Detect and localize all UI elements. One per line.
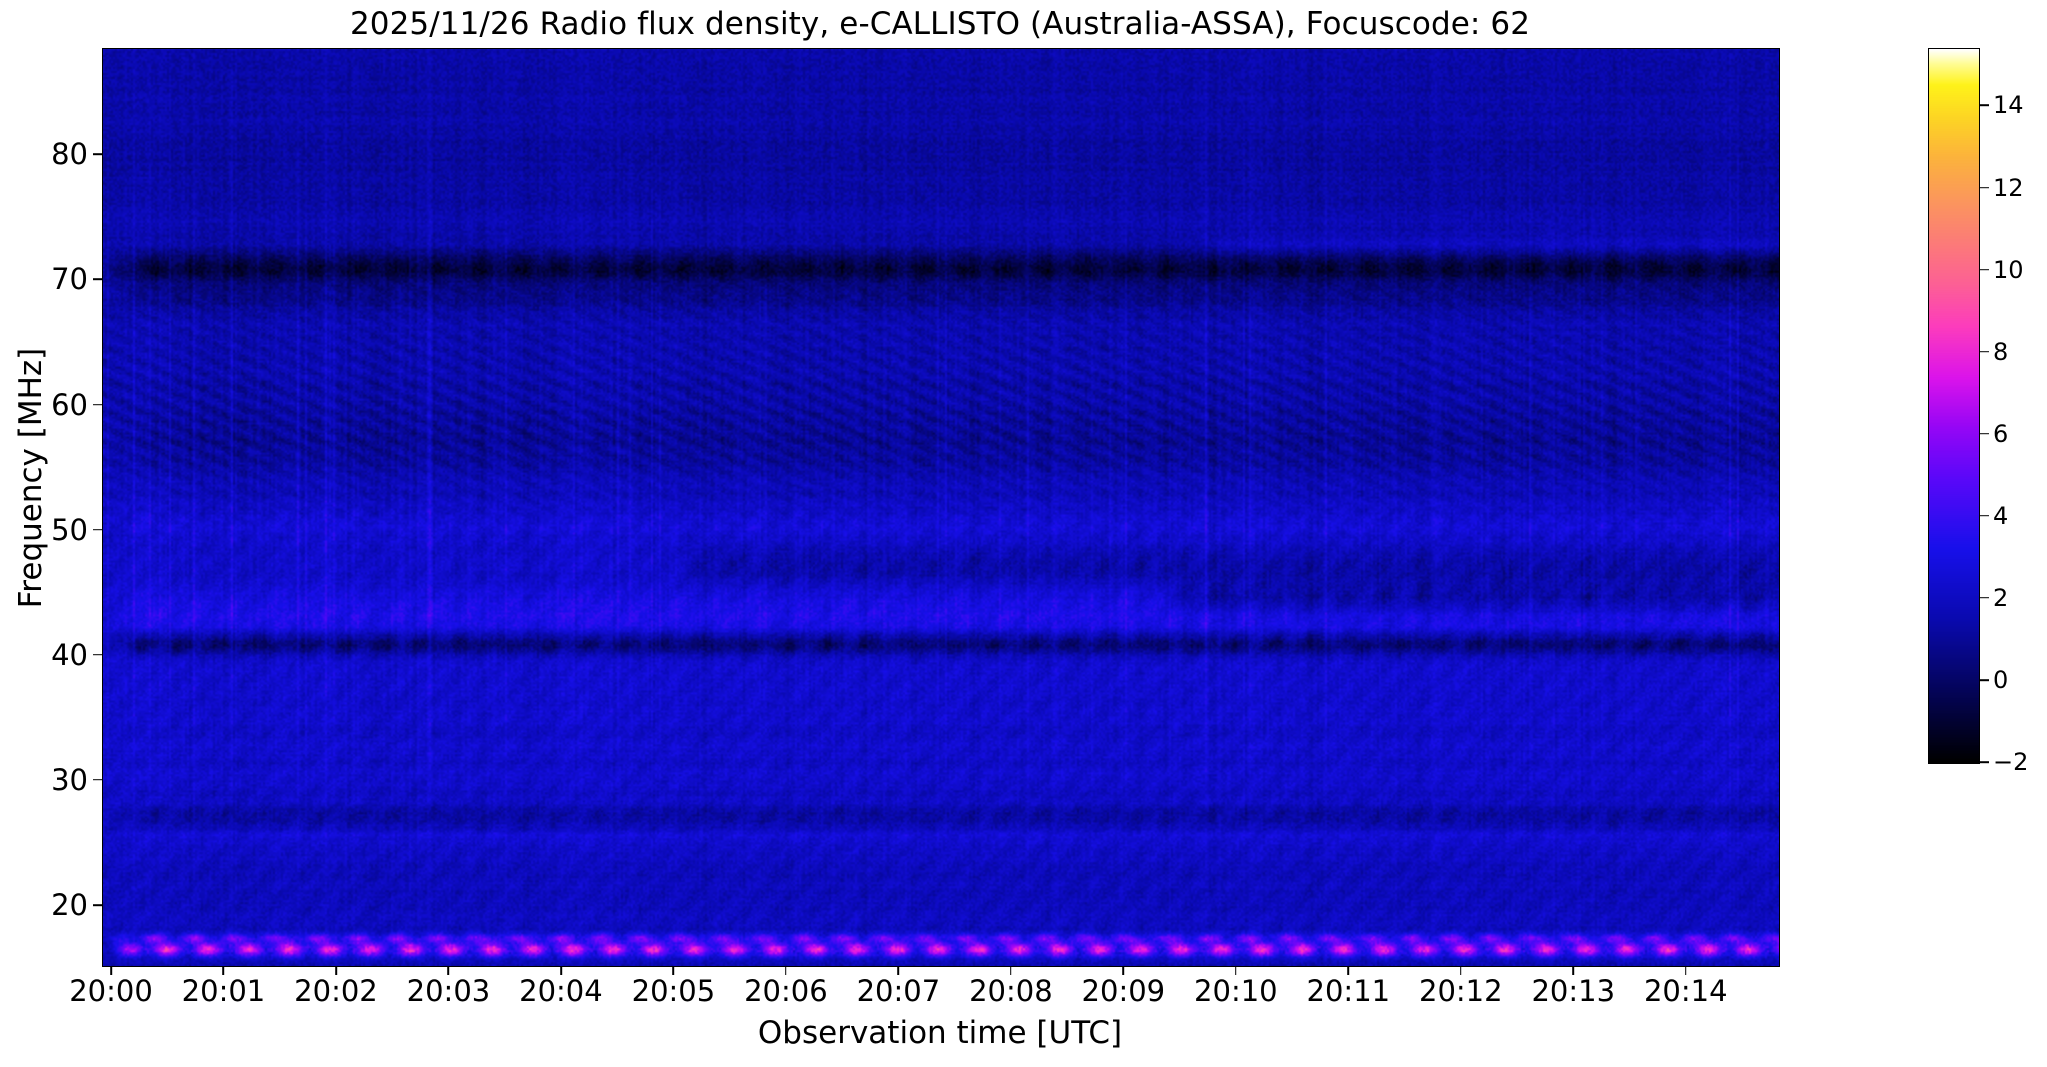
colorbar-tick-mark bbox=[1980, 515, 1989, 517]
x-tick-label: 20:02 bbox=[294, 974, 378, 1008]
x-tick-label: 20:10 bbox=[1194, 974, 1278, 1008]
colorbar-tick-label: 14 bbox=[1993, 91, 2024, 119]
colorbar-tick-mark bbox=[1980, 679, 1989, 681]
colorbar-gradient bbox=[1929, 49, 1979, 763]
x-axis: 20:0020:0120:0220:0320:0420:0520:0620:07… bbox=[0, 0, 2047, 1067]
x-tick-label: 20:09 bbox=[1082, 974, 1166, 1008]
colorbar-tick-label: 8 bbox=[1993, 338, 2008, 366]
colorbar-tick-mark bbox=[1980, 187, 1989, 189]
colorbar-tick-label: 10 bbox=[1993, 256, 2024, 284]
x-tick-label: 20:14 bbox=[1644, 974, 1728, 1008]
colorbar-tick-label: 12 bbox=[1993, 174, 2024, 202]
colorbar-tick-mark bbox=[1980, 433, 1989, 435]
x-tick-label: 20:04 bbox=[519, 974, 603, 1008]
colorbar-tick-mark bbox=[1980, 269, 1989, 271]
x-tick-label: 20:00 bbox=[69, 974, 153, 1008]
colorbar-tick-mark bbox=[1980, 105, 1989, 107]
figure-root: 2025/11/26 Radio flux density, e-CALLIST… bbox=[0, 0, 2047, 1067]
colorbar-tick-mark bbox=[1980, 761, 1989, 763]
colorbar-tick-mark bbox=[1980, 351, 1989, 353]
x-axis-label: Observation time [UTC] bbox=[102, 1015, 1778, 1051]
colorbar-tick-label: −2 bbox=[1993, 748, 2028, 776]
x-tick-label: 20:03 bbox=[407, 974, 491, 1008]
colorbar-tick-label: 4 bbox=[1993, 502, 2008, 530]
colorbar[interactable] bbox=[1928, 48, 1980, 764]
x-tick-label: 20:08 bbox=[969, 974, 1053, 1008]
colorbar-tick-label: 6 bbox=[1993, 420, 2008, 448]
x-tick-label: 20:11 bbox=[1307, 974, 1391, 1008]
x-tick-label: 20:12 bbox=[1419, 974, 1503, 1008]
colorbar-tick-label: 2 bbox=[1993, 584, 2008, 612]
colorbar-tick-label: 0 bbox=[1993, 666, 2008, 694]
colorbar-tick-mark bbox=[1980, 597, 1989, 599]
x-tick-label: 20:07 bbox=[857, 974, 941, 1008]
x-tick-label: 20:06 bbox=[744, 974, 828, 1008]
x-tick-label: 20:13 bbox=[1531, 974, 1615, 1008]
x-tick-label: 20:01 bbox=[182, 974, 266, 1008]
x-tick-label: 20:05 bbox=[632, 974, 716, 1008]
